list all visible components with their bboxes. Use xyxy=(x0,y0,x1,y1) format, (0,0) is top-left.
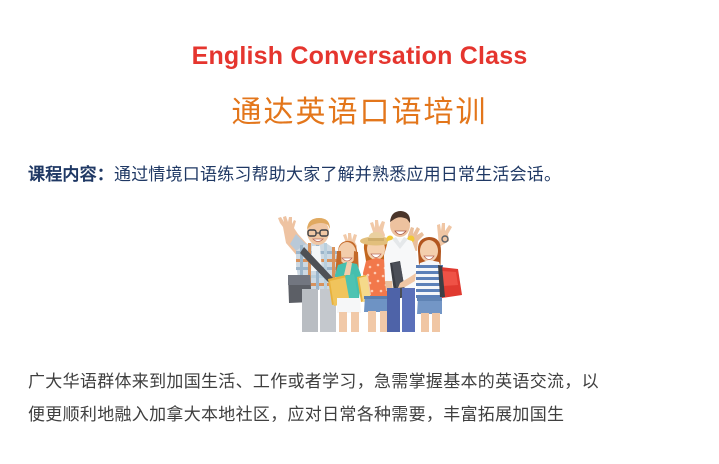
students-cheering-photo xyxy=(242,201,478,332)
page-title-chinese: 通达英语口语培训 xyxy=(28,71,691,131)
course-content-line: 课程内容：通过情境口语练习帮助大家了解并熟悉应用日常生活会话。 xyxy=(28,131,691,188)
students-cheering-illustration xyxy=(242,201,478,332)
page-title-english: English Conversation Class xyxy=(28,0,691,71)
body-paragraph-line-1: 广大华语群体来到加国生活、工作或者学习，急需掌握基本的英语交流，以 xyxy=(28,365,691,398)
photo-container xyxy=(28,187,691,337)
document-page: English Conversation Class 通达英语口语培训 课程内容… xyxy=(0,0,719,464)
course-content-text: 通过情境口语练习帮助大家了解并熟悉应用日常生活会话。 xyxy=(114,165,561,184)
course-content-label: 课程内容： xyxy=(28,165,114,184)
body-paragraph-line-2: 便更顺利地融入加拿大本地社区，应对日常各种需要，丰富拓展加国生 xyxy=(28,398,691,431)
body-paragraph: 广大华语群体来到加国生活、工作或者学习，急需掌握基本的英语交流，以 便更顺利地融… xyxy=(28,337,691,431)
